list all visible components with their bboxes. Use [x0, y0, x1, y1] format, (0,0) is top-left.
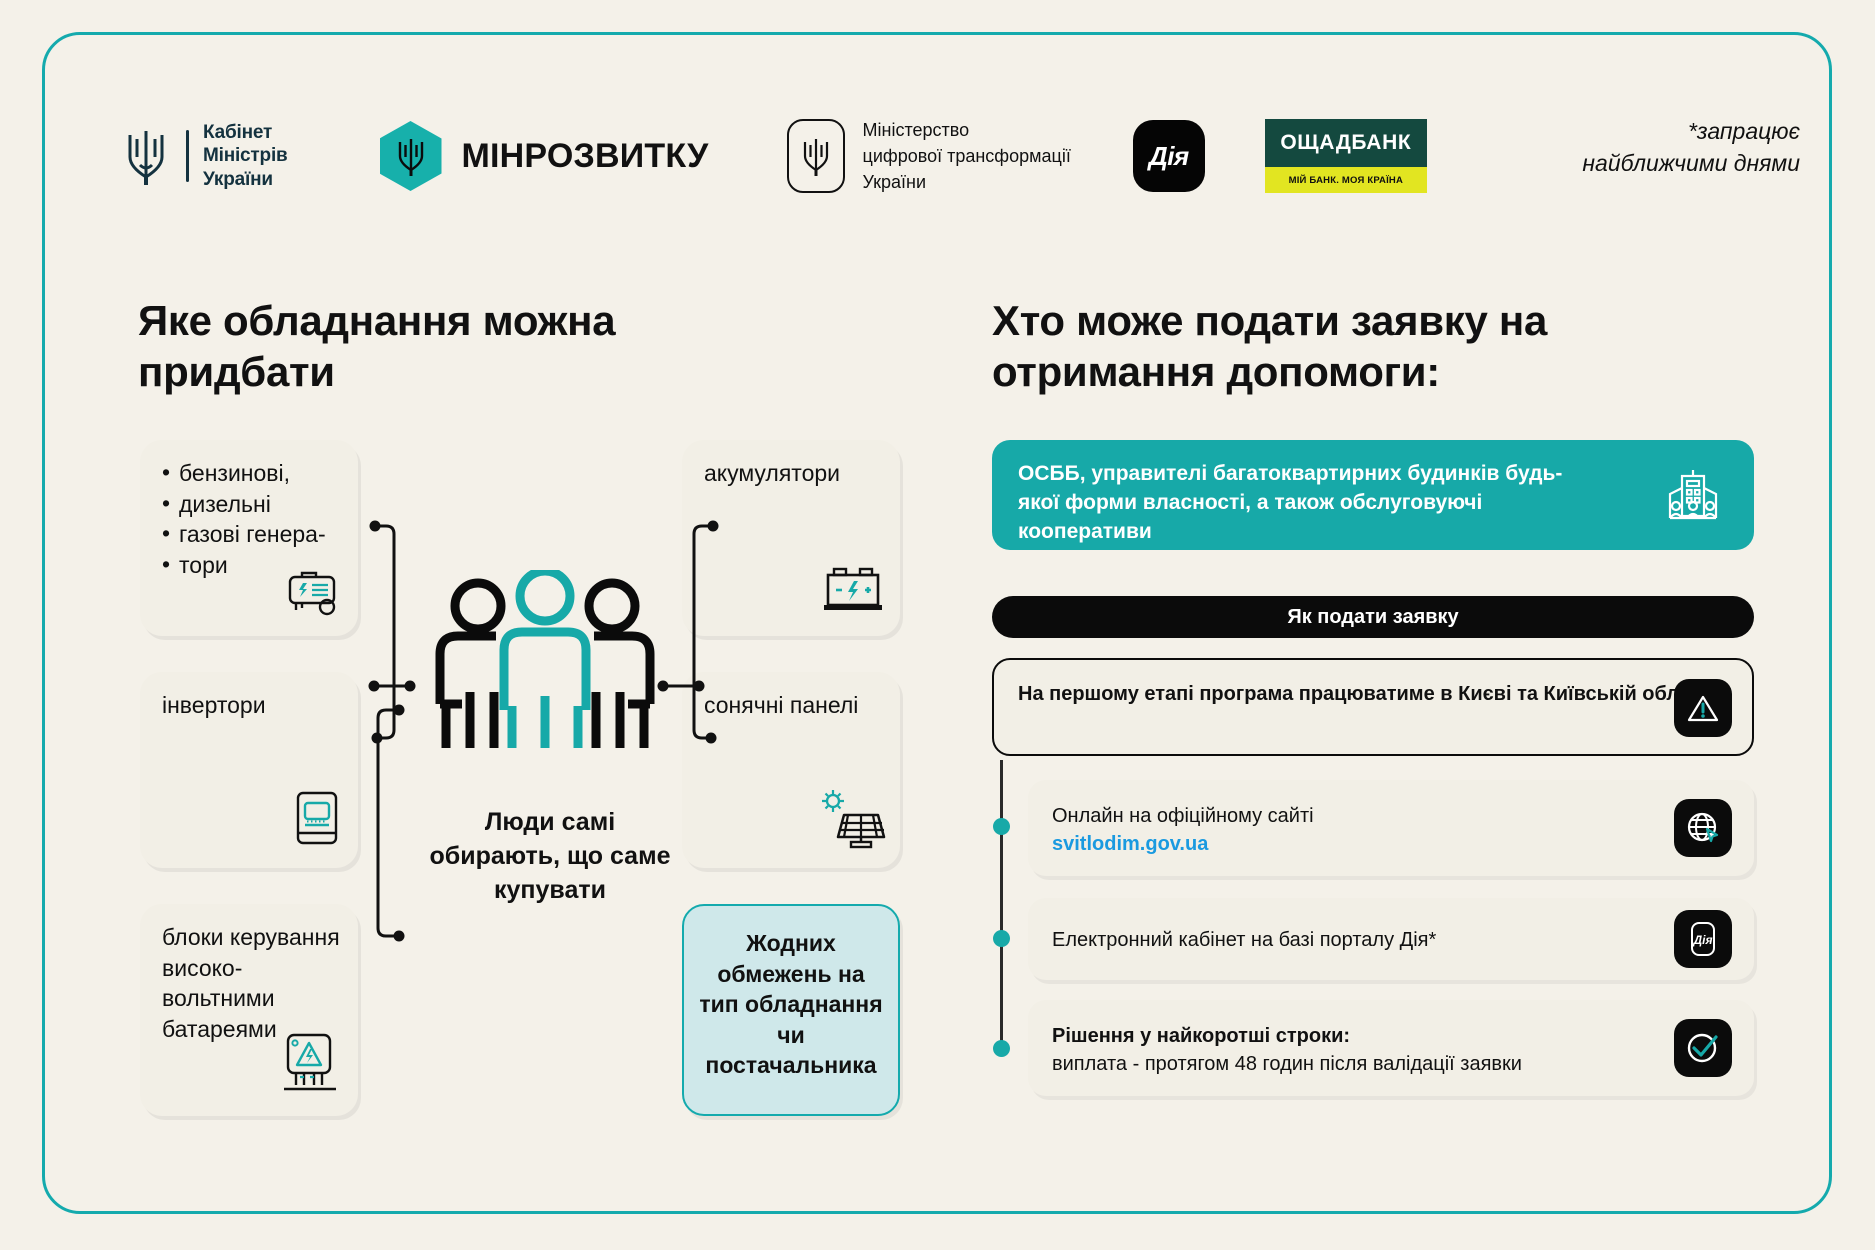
trident-hexagon-icon [380, 121, 442, 191]
people-illustration [420, 570, 670, 785]
inverter-icon [288, 787, 344, 854]
how-to-apply-bar: Як подати заявку [992, 596, 1754, 638]
oschadbank-tagline: МІЙ БАНК. МОЯ КРАЇНА [1265, 167, 1427, 193]
eligibility-panel: ОСББ, управителі багатоквартирних будинк… [992, 440, 1754, 550]
minrozvytku-label: МІНРОЗВИТКУ [462, 137, 709, 176]
logo-header: Кабінет Міністрів України [120, 110, 1800, 202]
how-to-apply-label: Як подати заявку [1287, 606, 1458, 629]
apartment-building-people-icon [1662, 466, 1724, 533]
solar-panels-label: сонячні панелі [704, 690, 858, 721]
check-circle-icon [1674, 1019, 1732, 1077]
infographic-page: Кабінет Міністрів України [0, 0, 1875, 1250]
no-limits-label: Жодних обмежень на тип обладнання чи пос… [684, 928, 898, 1081]
globe-cursor-icon [1674, 799, 1732, 857]
solar-panel-icon [816, 787, 886, 854]
equipment-card-no-limits[interactable]: Жодних обмежень на тип обладнання чи пос… [682, 904, 900, 1116]
high-voltage-icon [274, 1031, 344, 1102]
timeline-dot-3 [993, 1040, 1010, 1057]
svg-text:Дiя: Дiя [1692, 933, 1712, 947]
first-stage-card[interactable]: На першому етапі програма працюватиме в … [992, 658, 1754, 756]
diia-app-icon: Дiя [1674, 910, 1732, 968]
equipment-card-generators[interactable]: бензинові, дизельні газові генера- тори [140, 440, 358, 636]
trident-outline-icon [787, 119, 845, 193]
ukraine-trident-icon [120, 125, 172, 187]
logo-cabinet-of-ministers: Кабінет Міністрів України [120, 121, 288, 191]
logo-ministry-digital: Міністерство цифрової трансформації Укра… [787, 117, 1071, 195]
step-online-text: Онлайн на офіційному сайті svitlodim.gov… [1052, 802, 1314, 858]
diia-label: Дія [1149, 141, 1189, 172]
oschadbank-name: ОЩАДБАНК [1265, 119, 1427, 167]
step-decision-timing[interactable]: Рішення у найкоротші строки: виплата - п… [1028, 1000, 1754, 1096]
generator-icon [282, 565, 344, 622]
timeline-dot-2 [993, 930, 1010, 947]
step-diia-cabinet[interactable]: Електронний кабінет на базі порталу Дія*… [1028, 898, 1754, 980]
people-caption: Люди самі обирають, що саме купувати [420, 805, 680, 907]
logo-divider [186, 130, 189, 182]
mincyfra-label: Міністерство цифрової трансформації Укра… [863, 117, 1071, 195]
timeline-dot-1 [993, 818, 1010, 835]
step-diia-text: Електронний кабінет на базі порталу Дія* [1052, 926, 1436, 954]
equipment-card-inverters[interactable]: інвертори [140, 672, 358, 868]
logo-oschadbank: ОЩАДБАНК МІЙ БАНК. МОЯ КРАЇНА [1265, 119, 1427, 193]
steps-timeline [1000, 760, 1003, 1056]
step-online-website[interactable]: Онлайн на офіційному сайті svitlodim.gov… [1028, 780, 1754, 876]
right-section-title: Хто може подати заявку на отримання допо… [992, 295, 1632, 397]
eligibility-text: ОСББ, управителі багатоквартирних будинк… [1018, 460, 1578, 547]
first-stage-text: На першому етапі програма працюватиме в … [1018, 680, 1717, 708]
inverters-label: інвертори [162, 690, 266, 721]
kmu-label: Кабінет Міністрів України [203, 121, 288, 191]
equipment-card-battery-control[interactable]: блоки керування високо- вольтними батаре… [140, 904, 358, 1116]
warning-triangle-icon [1674, 679, 1732, 737]
logo-diia: Дія [1133, 120, 1205, 192]
battery-control-label: блоки керування високо- вольтними батаре… [162, 922, 358, 1044]
accumulators-label: акумулятори [704, 458, 840, 489]
car-battery-icon [820, 561, 886, 622]
generators-list: бензинові, дизельні газові генера- тори [162, 458, 326, 580]
step-decision-text: Рішення у найкоротші строки: виплата - п… [1052, 1022, 1522, 1078]
footnote-note: *запрацює найближчими днями [1582, 116, 1800, 179]
diia-logo-icon: Дія [1133, 120, 1205, 192]
svitlodim-link[interactable]: svitlodim.gov.ua [1052, 830, 1314, 858]
left-section-title: Яке обладнання можна придбати [138, 295, 738, 397]
logo-minrozvytku: МІНРОЗВИТКУ [380, 121, 709, 191]
